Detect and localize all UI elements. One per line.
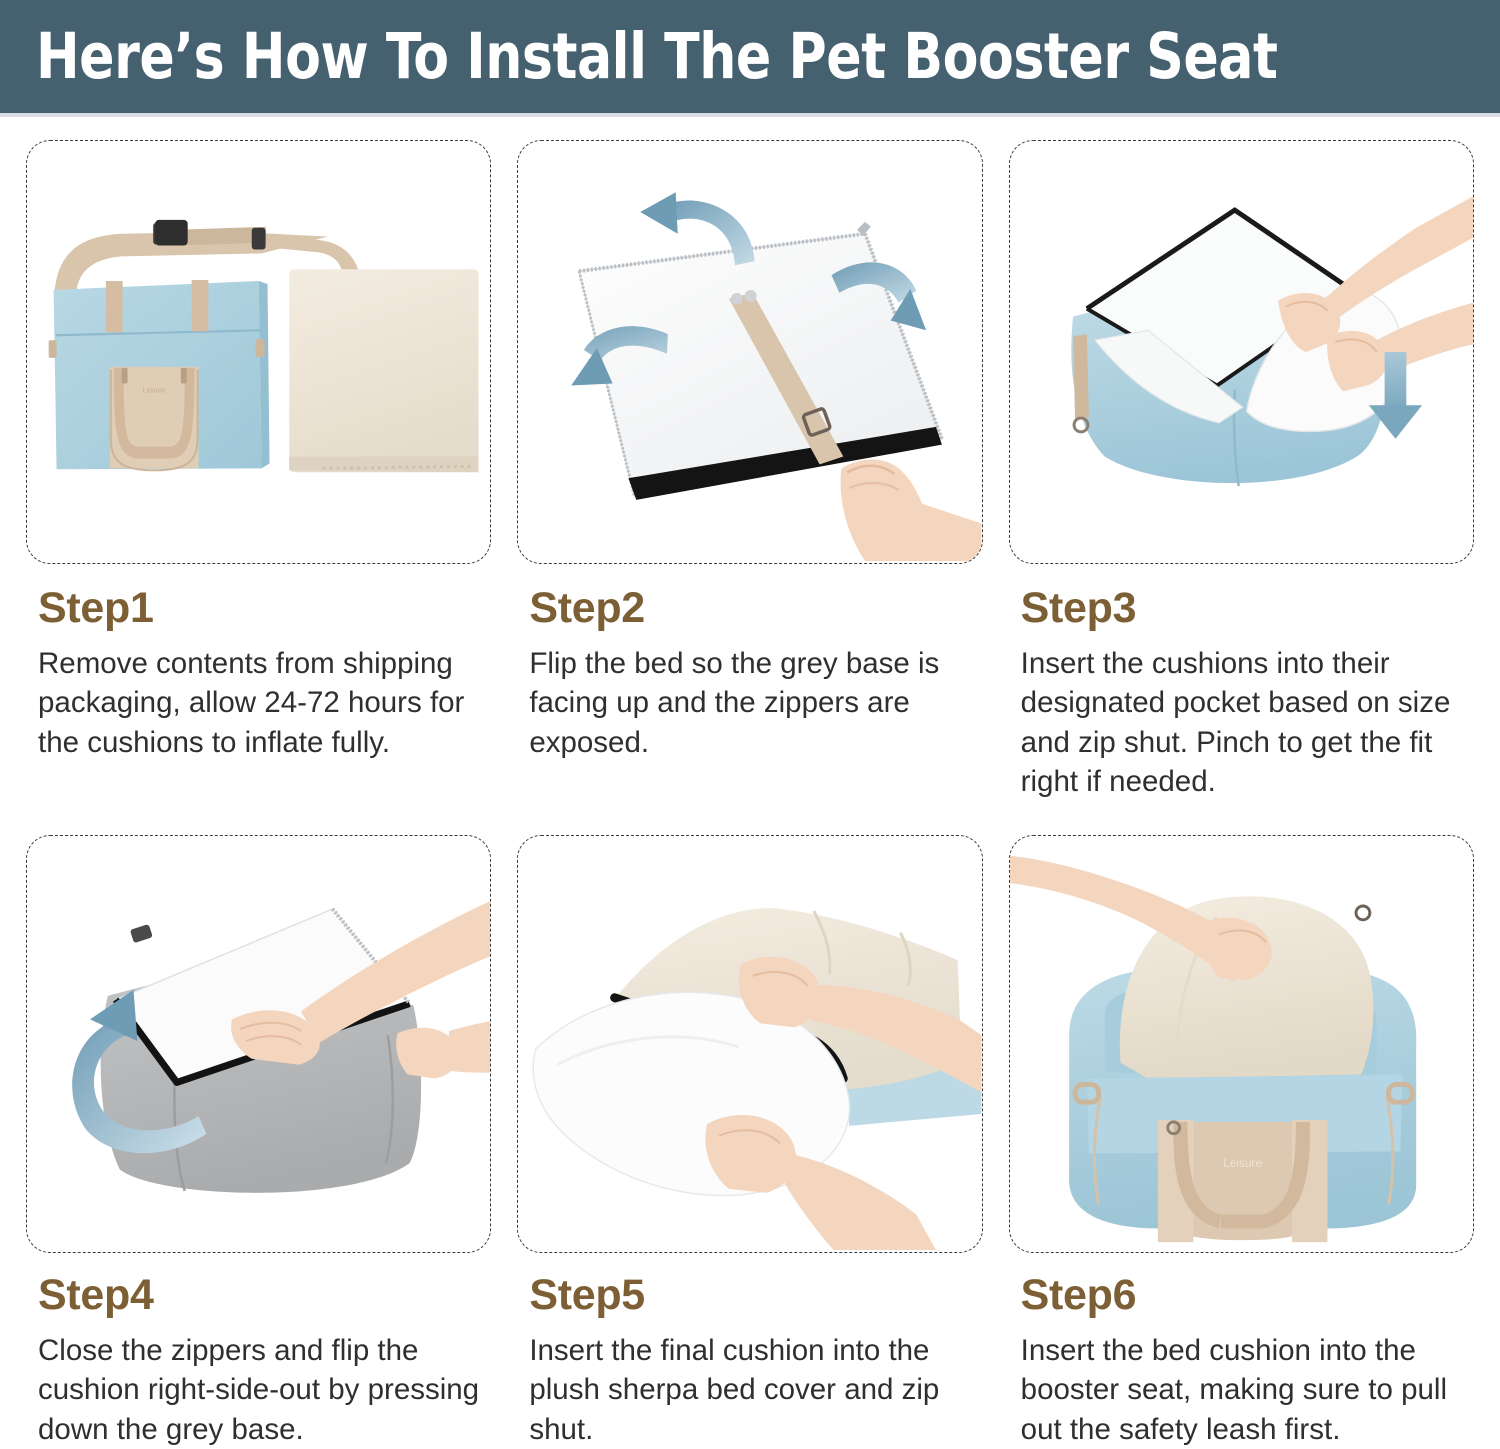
step-cell-3: Step3 Insert the cushions into their des… xyxy=(1009,140,1474,801)
step-3-label: Step3 xyxy=(1021,586,1474,631)
handle-rivet-left xyxy=(122,368,128,384)
zipper-pull xyxy=(857,222,871,236)
step-6-image: Leisure xyxy=(1009,835,1474,1253)
cushion-zipper-pull xyxy=(1356,906,1370,920)
strap-adjuster xyxy=(252,228,266,250)
step-5-label: Step5 xyxy=(529,1273,982,1318)
tan-zipper-strap xyxy=(1073,334,1089,419)
step-1-text: Remove contents from shipping packaging,… xyxy=(38,644,491,762)
gripping-forearm xyxy=(449,1021,490,1072)
step-cell-4: Step4 Close the zippers and flip the cus… xyxy=(26,835,491,1449)
step-3-image xyxy=(1009,140,1474,564)
step-2-text: Flip the bed so the grey base is facing … xyxy=(529,644,982,762)
side-loop-right xyxy=(256,339,265,357)
step-3-text: Insert the cushions into their designate… xyxy=(1021,644,1474,801)
side-loop-left xyxy=(49,340,57,358)
strap-buckle xyxy=(155,220,188,246)
strap-ring-a xyxy=(731,293,743,305)
tote-handle-bottom xyxy=(137,447,171,459)
header-banner: Here’s How To Install The Pet Booster Se… xyxy=(0,0,1500,113)
step-6-text: Insert the bed cushion into the booster … xyxy=(1021,1331,1474,1449)
step-4-image xyxy=(26,835,491,1253)
step-cell-1: Leisure Step1 Remove contents from shipp… xyxy=(26,140,491,801)
corner-tab xyxy=(130,924,153,943)
sherpa-cover-illustration xyxy=(518,836,981,1252)
steps-grid: Leisure Step1 Remove contents from shipp… xyxy=(0,117,1500,1449)
bag-strap-right xyxy=(192,280,209,331)
step-5-text: Insert the final cushion into the plush … xyxy=(529,1331,982,1449)
booster-seat-illustration: Leisure xyxy=(1010,836,1473,1252)
step-2-label: Step2 xyxy=(529,586,982,631)
blanket-fold-edge xyxy=(289,456,478,472)
bag-strap-left xyxy=(106,281,123,332)
insert-cushions-illustration xyxy=(1010,141,1473,563)
press-grey-base-illustration xyxy=(27,836,490,1252)
step-4-text: Close the zippers and flip the cushion r… xyxy=(38,1331,491,1449)
step-4-label: Step4 xyxy=(38,1273,491,1318)
pocket-brand-mark: Leisure xyxy=(143,387,166,394)
tote-bag-and-blanket-illustration: Leisure xyxy=(27,141,490,563)
step-cell-2: Step2 Flip the bed so the grey base is f… xyxy=(517,140,982,801)
step-cell-5: Step5 Insert the final cushion into the … xyxy=(517,835,982,1449)
infographic-page: Here’s How To Install The Pet Booster Se… xyxy=(0,0,1500,1446)
step-1-image: Leisure xyxy=(26,140,491,564)
lower-forearm xyxy=(777,1152,937,1251)
pocket-logo: Leisure xyxy=(1223,1156,1262,1170)
tote-handle-bottom xyxy=(1221,1215,1264,1229)
step-6-label: Step6 xyxy=(1021,1273,1474,1318)
flip-bed-illustration xyxy=(518,141,981,563)
step-1-label: Step1 xyxy=(38,586,491,631)
handle-rivet-right xyxy=(181,368,187,384)
left-forearm xyxy=(1323,196,1473,320)
step-5-image xyxy=(517,835,982,1253)
hand-lifting-corner xyxy=(841,459,982,561)
page-title: Here’s How To Install The Pet Booster Se… xyxy=(36,25,1277,88)
step-2-image xyxy=(517,140,982,564)
step-cell-6: Leisure Step6 Insert the bed cushion int… xyxy=(1009,835,1474,1449)
strap-ring-b xyxy=(745,290,757,302)
folded-sherpa-blanket xyxy=(289,269,478,472)
